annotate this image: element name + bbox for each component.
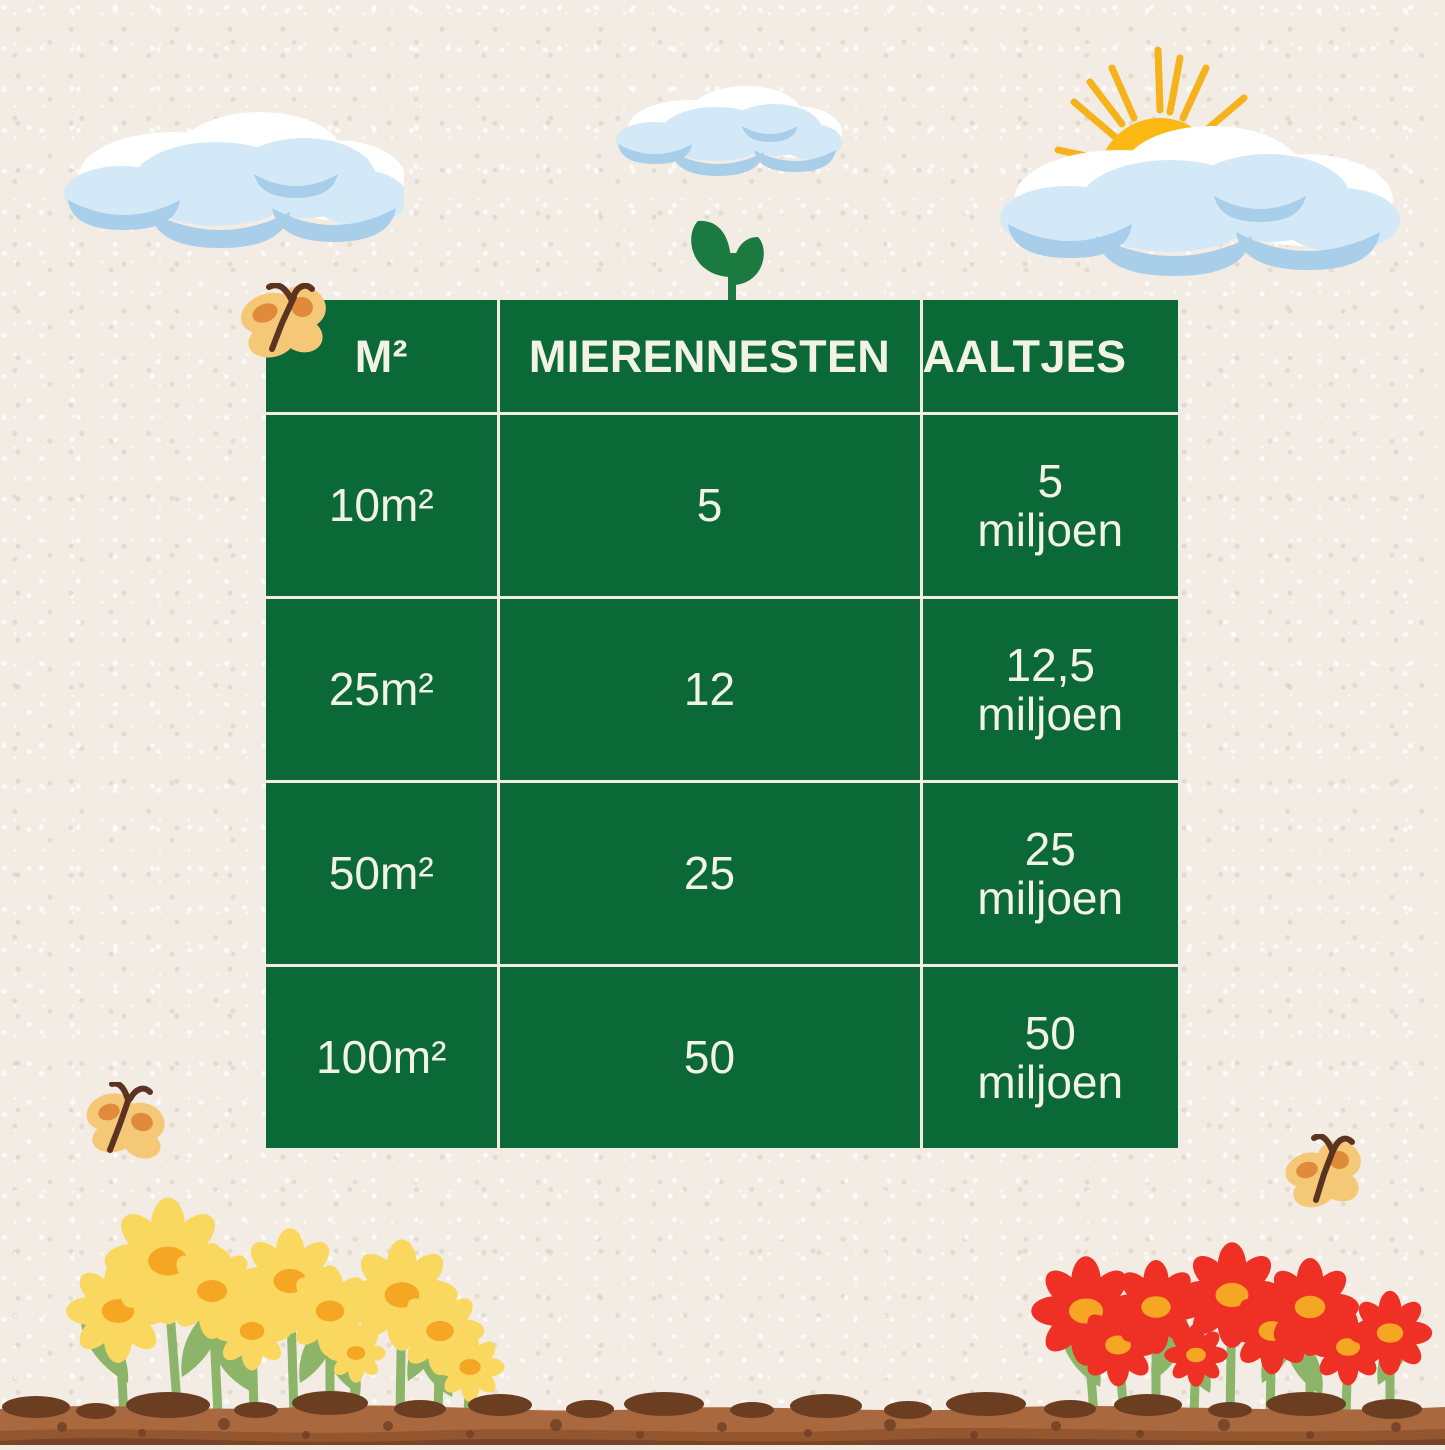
nematode-dosage-table: M² MIERENNESTEN AALTJES 10m² 5 5 miljoen…: [266, 300, 1178, 1138]
aaltjes-unit: miljoen: [923, 874, 1179, 923]
dosage-table: M² MIERENNESTEN AALTJES 10m² 5 5 miljoen…: [266, 300, 1178, 1148]
table-row: 25m² 12 12,5 miljoen: [266, 598, 1178, 782]
table-row: 50m² 25 25 miljoen: [266, 782, 1178, 966]
cell-aaltjes: 50 miljoen: [921, 966, 1178, 1149]
cloud-right: [1000, 120, 1400, 280]
table-header-row: M² MIERENNESTEN AALTJES: [266, 300, 1178, 414]
cloud-left: [64, 104, 404, 254]
sun-icon: [1030, 40, 1290, 265]
cell-nests: 25: [498, 782, 921, 966]
cell-m2: 10m²: [266, 414, 498, 598]
cell-nests: 12: [498, 598, 921, 782]
table-row: 10m² 5 5 miljoen: [266, 414, 1178, 598]
column-header-aaltjes: AALTJES: [921, 300, 1178, 414]
cell-m2: 50m²: [266, 782, 498, 966]
cell-m2: 25m²: [266, 598, 498, 782]
cell-aaltjes: 5 miljoen: [921, 414, 1178, 598]
aaltjes-amount: 12,5: [923, 641, 1179, 690]
cell-m2: 100m²: [266, 966, 498, 1149]
ground-layer: [0, 1115, 1445, 1445]
aaltjes-unit: miljoen: [923, 690, 1179, 739]
cell-aaltjes: 25 miljoen: [921, 782, 1178, 966]
cell-nests: 5: [498, 414, 921, 598]
table-row: 100m² 50 50 miljoen: [266, 966, 1178, 1149]
cloud-center: [616, 82, 842, 180]
cell-nests: 50: [498, 966, 921, 1149]
aaltjes-amount: 50: [923, 1009, 1179, 1058]
aaltjes-amount: 25: [923, 825, 1179, 874]
aaltjes-unit: miljoen: [923, 506, 1179, 555]
aaltjes-unit: miljoen: [923, 1058, 1179, 1107]
aaltjes-amount: 5: [923, 457, 1179, 506]
cell-aaltjes: 12,5 miljoen: [921, 598, 1178, 782]
column-header-mierennesten: MIERENNESTEN: [498, 300, 921, 414]
column-header-m2: M²: [266, 300, 498, 414]
poster-canvas: M² MIERENNESTEN AALTJES 10m² 5 5 miljoen…: [0, 0, 1445, 1445]
